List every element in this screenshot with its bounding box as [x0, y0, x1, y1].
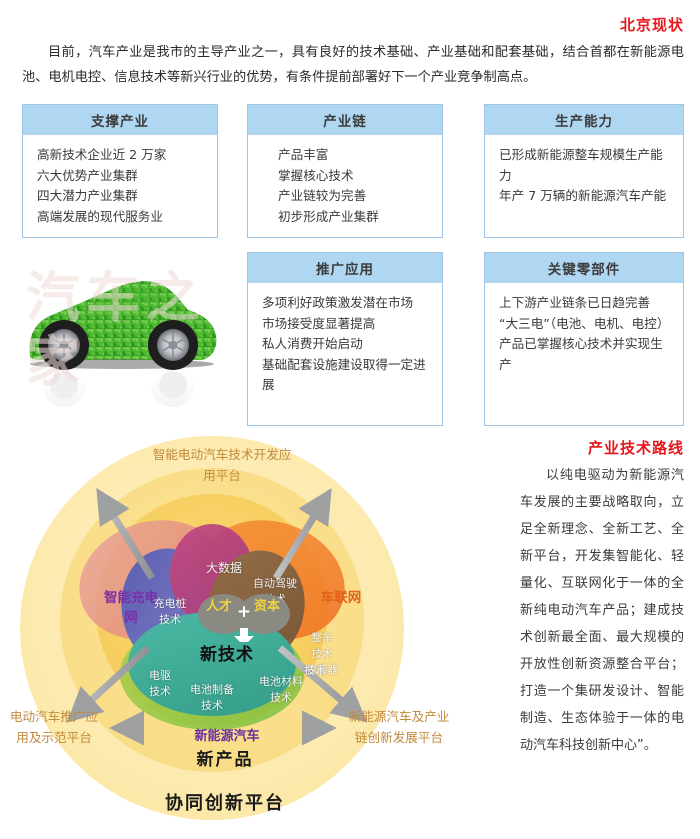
- tech-label-tech: 技术: [295, 663, 335, 679]
- card-line: 市场接受度显著提高: [262, 314, 430, 335]
- card-header: 生产能力: [485, 105, 683, 135]
- domain-label-new-energy-vehicle: 新能源汽车: [175, 726, 279, 747]
- watermark-text: 汽车之家: [26, 266, 226, 416]
- card-line: 四大潜力产业集群: [37, 186, 205, 207]
- card-header: 推广应用: [248, 253, 442, 283]
- intro-paragraph: 目前，汽车产业是我市的主导产业之一，具有良好的技术基础、产业基础和配套基础，结合…: [22, 40, 684, 90]
- card-line: 产品丰富: [278, 145, 430, 166]
- card-line: 掌握核心技术: [278, 166, 430, 187]
- platform-label-top: 智能电动汽车技术开发应用平台: [152, 444, 292, 486]
- tech-label-edrive: 电驱技术: [140, 668, 180, 700]
- card-line: 多项利好政策激发潜在市场: [262, 293, 430, 314]
- tech-label-big-data: 大数据: [196, 560, 252, 576]
- card-header: 支撑产业: [23, 105, 217, 135]
- card-line: 高新技术企业近 2 万家: [37, 145, 205, 166]
- card-line: 初步形成产业集群: [278, 207, 430, 228]
- ring-label-collaborative-platform: 协同创新平台: [130, 793, 320, 814]
- card-support-industry: 支撑产业 高新技术企业近 2 万家 六大优势产业集群 四大潜力产业集群 高端发展…: [22, 104, 218, 238]
- card-industry-chain: 产业链 产品丰富 掌握核心技术 产业链较为完善 初步形成产业集群: [247, 104, 443, 238]
- domain-label-internet-of-vehicles: 车联网: [310, 588, 372, 609]
- card-promotion-application: 推广应用 多项利好政策激发潜在市场 市场接受度显著提高 私人消费开始启动 基础配…: [247, 252, 443, 426]
- tech-label-battery-prep: 电池制备技术: [185, 682, 239, 714]
- ring-label-new-product: 新产品: [150, 750, 300, 771]
- pill-label-capital: 资本: [252, 598, 282, 615]
- card-body: 已形成新能源整车规模生产能力 年产 7 万辆的新能源汽车产能: [485, 135, 683, 217]
- card-line: 年产 7 万辆的新能源汽车产能: [499, 186, 671, 207]
- card-line: 上下游产业链条已日趋完善: [499, 293, 671, 314]
- green-leaf-car-illustration: 汽车之家: [18, 248, 228, 426]
- platform-label-left: 电动汽车推广应用及示范平台: [4, 706, 104, 748]
- plus-icon: +: [234, 602, 254, 622]
- card-production-capacity: 生产能力 已形成新能源整车规模生产能力 年产 7 万辆的新能源汽车产能: [484, 104, 684, 238]
- card-body: 产品丰富 掌握核心技术 产业链较为完善 初步形成产业集群: [248, 135, 442, 237]
- card-key-components: 关键零部件 上下游产业链条已日趋完善 “大三电”（电池、电机、电控）产品已掌握核…: [484, 252, 684, 426]
- card-line: 已形成新能源整车规模生产能力: [499, 145, 671, 186]
- card-header: 关键零部件: [485, 253, 683, 283]
- infographic-page: 北京现状 目前，汽车产业是我市的主导产业之一，具有良好的技术基础、产业基础和配套…: [0, 0, 700, 839]
- section-title-beijing-status: 北京现状: [620, 14, 684, 35]
- tech-label-charging-pile: 充电桩技术: [148, 596, 192, 628]
- card-header: 产业链: [248, 105, 442, 135]
- platform-label-right: 新能源汽车及产业链创新发展平台: [344, 706, 454, 748]
- card-body: 上下游产业链条已日趋完善 “大三电”（电池、电机、电控）产品已掌握核心技术并实现…: [485, 283, 683, 385]
- route-paragraph: 以纯电驱动为新能源汽车发展的主要战略取向，立足全新理念、全新工艺、全新平台，开发…: [520, 462, 684, 759]
- pill-label-talent: 人才: [204, 598, 234, 615]
- card-line: 产业链较为完善: [278, 186, 430, 207]
- card-line: 私人消费开始启动: [262, 334, 430, 355]
- card-body: 高新技术企业近 2 万家 六大优势产业集群 四大潜力产业集群 高端发展的现代服务…: [23, 135, 217, 237]
- card-body: 多项利好政策激发潜在市场 市场接受度显著提高 私人消费开始启动 基础配套设施建设…: [248, 283, 442, 406]
- card-line: 六大优势产业集群: [37, 166, 205, 187]
- section-title-technology-route: 产业技术路线: [588, 437, 684, 458]
- card-line: “大三电”（电池、电机、电控）产品已掌握核心技术并实现生产: [499, 314, 671, 376]
- center-label-new-technology: 新技术: [172, 645, 282, 666]
- card-line: 高端发展的现代服务业: [37, 207, 205, 228]
- card-line: 基础配套设施建设取得一定进展: [262, 355, 430, 396]
